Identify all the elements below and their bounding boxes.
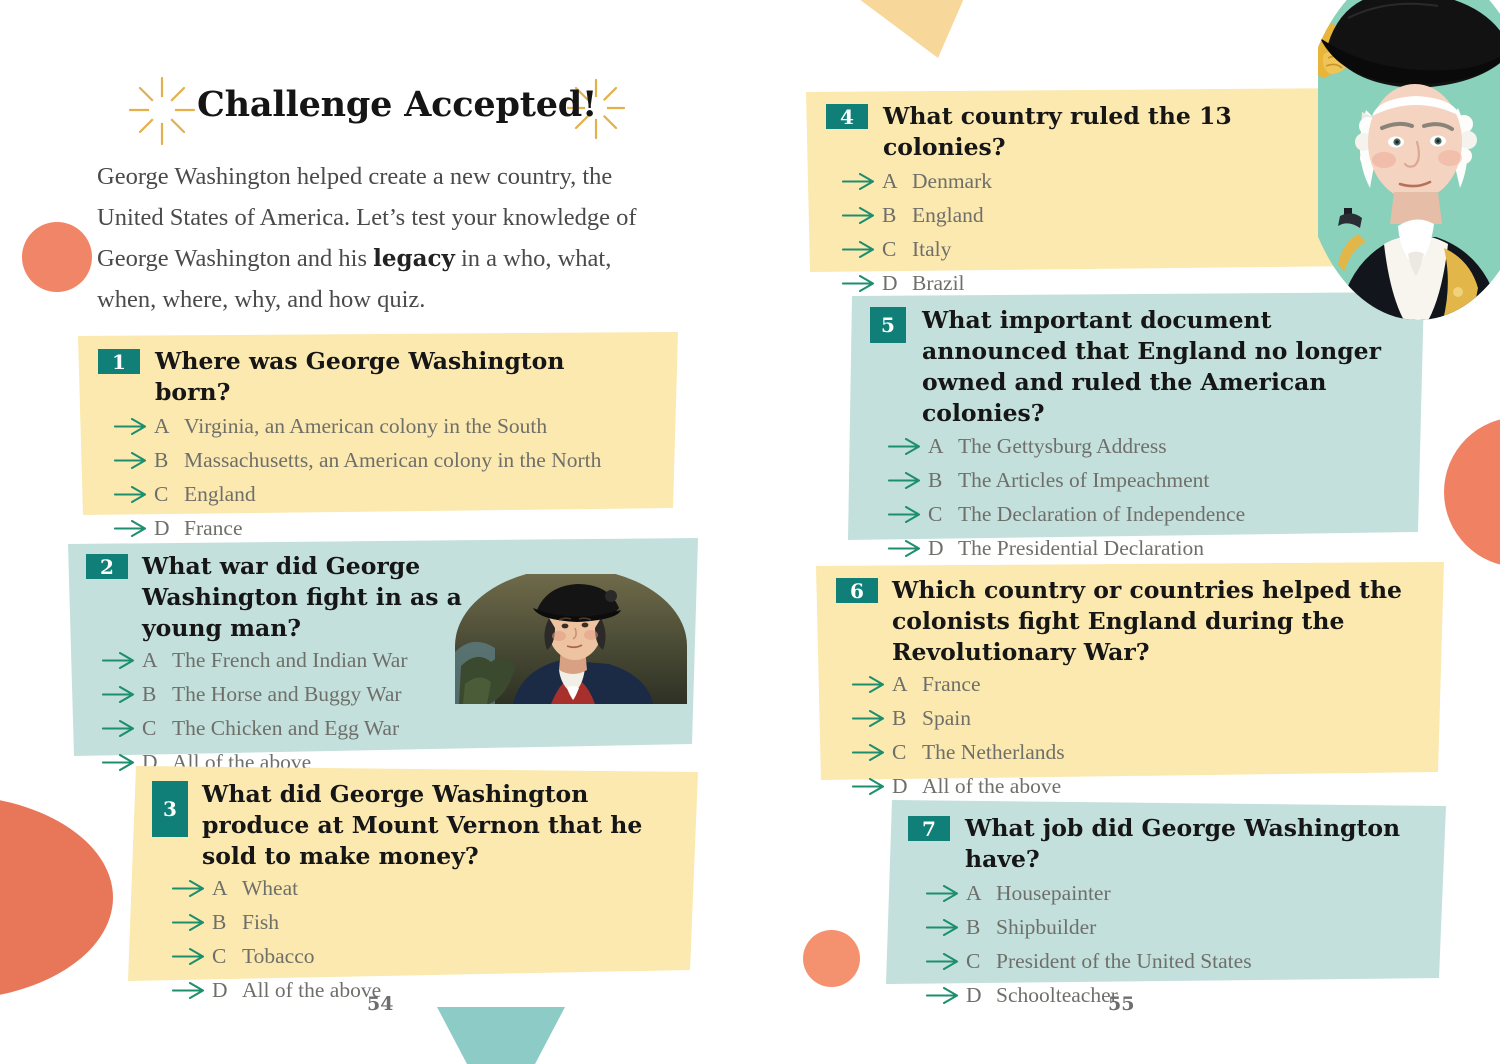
question-3-option-d[interactable]: D All of the above [172,978,698,1012]
option-letter: C [928,502,958,527]
question-block-4: 4 What country ruled the 13 colonies? A … [806,88,1366,272]
question-7-option-d[interactable]: D Schoolteacher [926,983,1446,1017]
book-spread: Challenge Accepted! George Washington he… [0,0,1500,1064]
option-letter: B [928,468,958,493]
question-3-option-b[interactable]: B Fish [172,910,698,944]
option-letter: C [966,949,996,974]
question-1-number: 1 [98,349,140,374]
option-letter: B [212,910,242,935]
question-2-number: 2 [86,554,128,579]
option-text: Wheat [242,876,298,901]
question-1-text: Where was George Washington born? [155,346,635,408]
starburst-left-decoration [122,70,202,150]
option-letter: B [142,682,172,707]
question-7-text: What job did George Washington have? [965,813,1415,875]
question-6-option-b[interactable]: B Spain [852,706,1444,740]
option-letter: C [142,716,172,741]
arrow-icon [842,241,882,258]
coral-circle-bottom-decoration [803,930,860,987]
question-4-option-b[interactable]: B England [842,203,1366,237]
arrow-icon [102,652,142,669]
arrow-icon [172,914,212,931]
option-text: Fish [242,910,279,935]
option-text: The Declaration of Independence [958,502,1245,527]
question-block-7: 7 What job did George Washington have? A… [886,800,1446,984]
coral-leaf-decoration [0,795,113,1000]
arrow-icon [926,885,966,902]
option-text: The Gettysburg Address [958,434,1167,459]
option-text: Housepainter [996,881,1111,906]
question-6-option-a[interactable]: A France [852,672,1444,706]
arrow-icon [888,540,928,557]
arrow-icon [842,207,882,224]
option-letter: A [212,876,242,901]
page-title: Challenge Accepted! [197,84,597,125]
arrow-icon [114,486,154,503]
question-6-number: 6 [836,578,878,603]
arrow-icon [102,686,142,703]
intro-paragraph: George Washington helped create a new co… [97,156,672,320]
option-letter: B [966,915,996,940]
option-letter: A [882,169,912,194]
option-letter: D [966,983,996,1008]
question-6-option-c[interactable]: C The Netherlands [852,740,1444,774]
option-text: President of the United States [996,949,1252,974]
option-letter: C [212,944,242,969]
option-letter: C [154,482,184,507]
question-1-option-a[interactable]: A Virginia, an American colony in the So… [114,414,678,448]
option-letter: C [882,237,912,262]
arrow-icon [102,720,142,737]
option-text: The Netherlands [922,740,1065,765]
arrow-icon [172,880,212,897]
question-5-option-c[interactable]: C The Declaration of Independence [888,502,1424,536]
option-text: Massachusetts, an American colony in the… [184,448,601,473]
question-3-option-a[interactable]: A Wheat [172,876,698,910]
question-block-3: 3 What did George Washington produce at … [128,766,698,981]
arrow-icon [926,987,966,1004]
option-letter: A [154,414,184,439]
option-text: All of the above [242,978,381,1003]
option-letter: D [928,536,958,561]
option-text: France [922,672,981,697]
question-2-option-c[interactable]: C The Chicken and Egg War [102,716,698,750]
option-text: Schoolteacher [996,983,1118,1008]
arrow-icon [172,982,212,999]
arrow-icon [172,948,212,965]
question-block-6: 6 Which country or countries helped the … [816,562,1444,780]
option-letter: D [212,978,242,1003]
coral-circle-right-decoration [1444,417,1500,567]
option-letter: D [892,774,922,799]
option-text: Italy [912,237,951,262]
question-3-number: 3 [152,781,188,837]
question-5-number: 5 [870,307,906,343]
question-4-option-c[interactable]: C Italy [842,237,1366,271]
question-5-option-b[interactable]: B The Articles of Impeachment [888,468,1424,502]
question-3-option-c[interactable]: C Tobacco [172,944,698,978]
question-7-option-b[interactable]: B Shipbuilder [926,915,1446,949]
option-letter: A [928,434,958,459]
page-number-right: 55 [1108,993,1134,1015]
question-7-option-a[interactable]: A Housepainter [926,881,1446,915]
arrow-icon [926,919,966,936]
arrow-icon [888,472,928,489]
coral-circle-left-decoration [22,222,92,292]
arrow-icon [926,953,966,970]
option-text: The Articles of Impeachment [958,468,1209,493]
option-letter: B [892,706,922,731]
question-4-number: 4 [826,104,868,129]
arrow-icon [852,676,892,693]
question-7-number: 7 [908,816,950,841]
option-text: Spain [922,706,971,731]
intro-bold-legacy: legacy [373,245,455,272]
option-text: Virginia, an American colony in the Sout… [184,414,547,439]
option-text: Shipbuilder [996,915,1096,940]
option-text: The French and Indian War [172,648,407,673]
arrow-icon [114,418,154,435]
arrow-icon [114,452,154,469]
option-text: The Horse and Buggy War [172,682,402,707]
question-4-option-a[interactable]: A Denmark [842,169,1366,203]
question-7-option-c[interactable]: C President of the United States [926,949,1446,983]
page-number-left: 54 [367,993,393,1015]
option-text: Tobacco [242,944,315,969]
option-text: The Chicken and Egg War [172,716,399,741]
general-washington-portrait [1318,0,1500,337]
option-text: Denmark [912,169,992,194]
question-block-1: 1 Where was George Washington born? A Vi… [78,332,678,515]
question-6-text: Which country or countries helped the co… [892,575,1440,668]
option-letter: A [142,648,172,673]
question-1-option-c[interactable]: C England [114,482,678,516]
option-letter: A [892,672,922,697]
arrow-icon [114,520,154,537]
arrow-icon [852,778,892,795]
option-text: All of the above [922,774,1061,799]
option-text: England [912,203,984,228]
question-5-option-a[interactable]: A The Gettysburg Address [888,434,1424,468]
option-letter: C [892,740,922,765]
arrow-icon [888,506,928,523]
arrow-icon [842,275,882,292]
option-text: The Presidential Declaration [958,536,1204,561]
question-1-option-b[interactable]: B Massachusetts, an American colony in t… [114,448,678,482]
gold-triangle-decoration [820,0,990,66]
arrow-icon [888,438,928,455]
question-3-text: What did George Washington produce at Mo… [202,779,672,872]
option-text: England [184,482,256,507]
option-letter: B [154,448,184,473]
question-4-text: What country ruled the 13 colonies? [883,101,1333,163]
young-washington-portrait [455,574,687,704]
option-letter: A [966,881,996,906]
arrow-icon [852,710,892,727]
option-letter: B [882,203,912,228]
arrow-icon [852,744,892,761]
arrow-icon [842,173,882,190]
